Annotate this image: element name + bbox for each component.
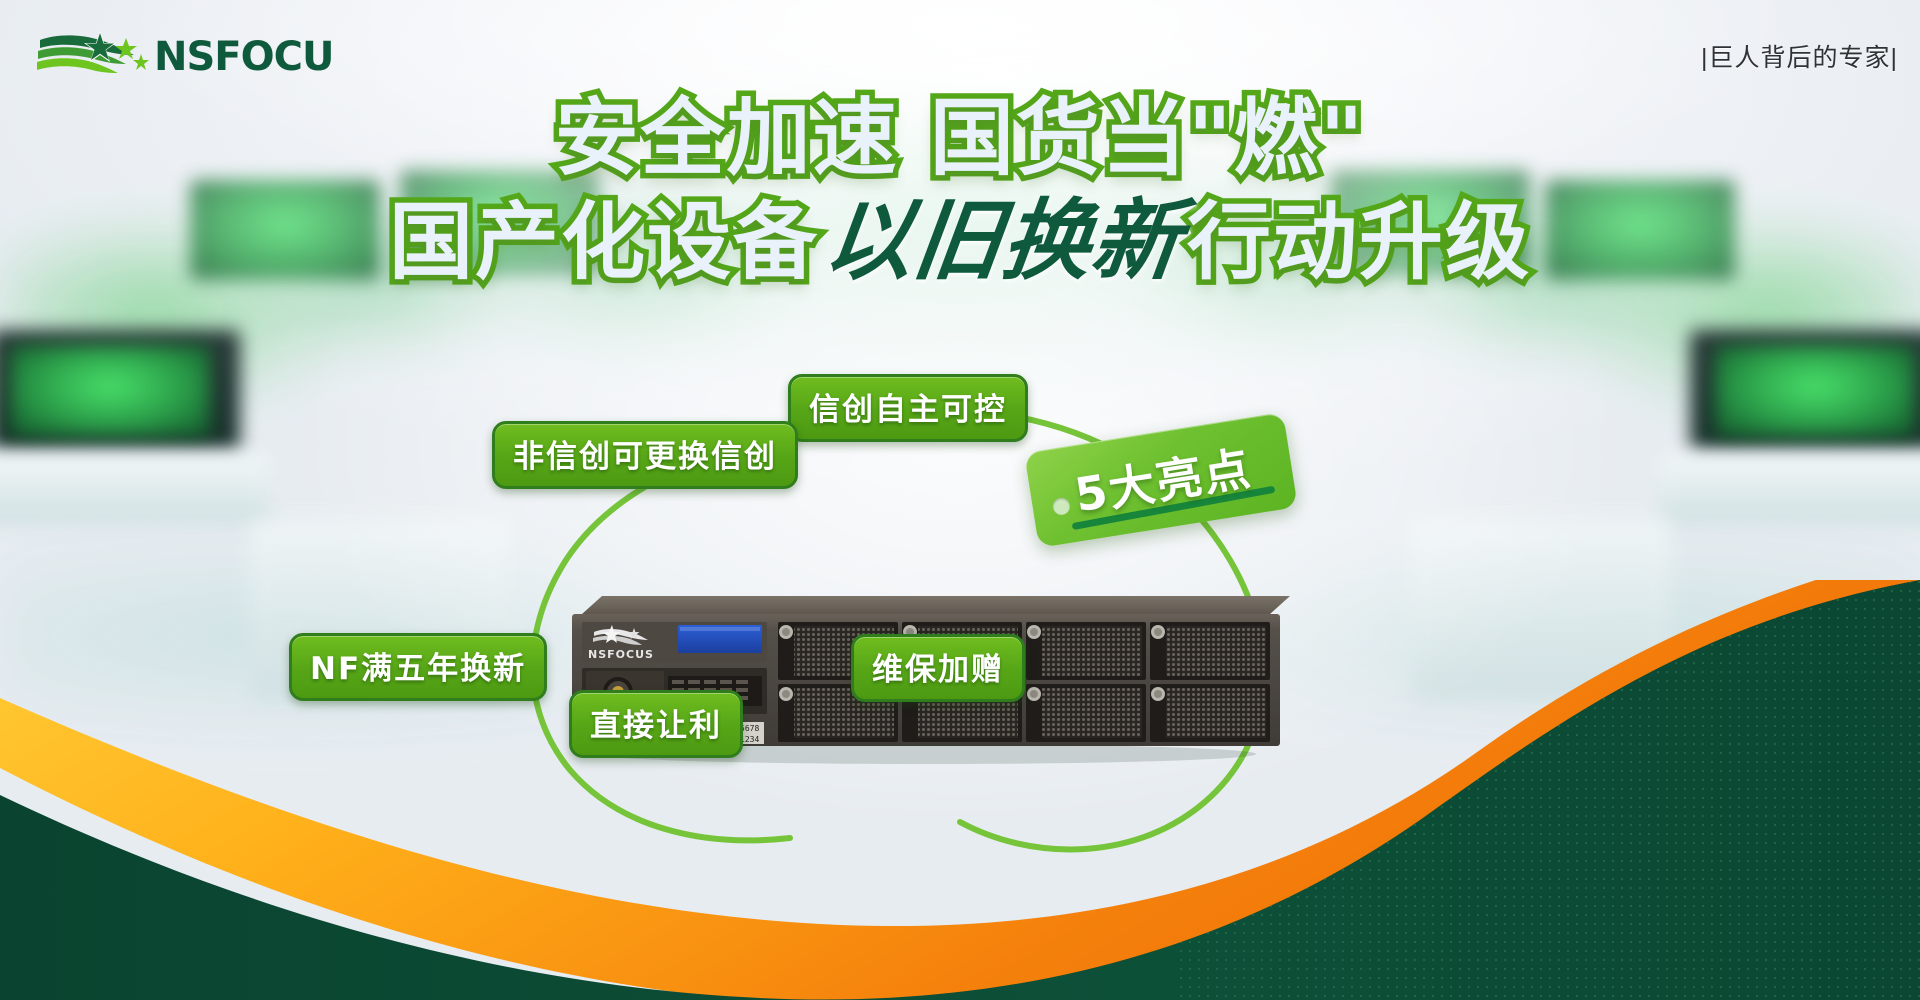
feature-pill-maintenance-bonus[interactable]: 维保加赠: [851, 634, 1025, 702]
nsfocus-logo-wordmark: NSFOCUS: [154, 34, 334, 80]
nsfocus-logo-svg: NSFOCUS: [34, 28, 334, 82]
banner-stage: NSFOCUS |巨人背后的专家| 安全加速 国货当"燃" 国产化设备以旧换新行…: [0, 0, 1920, 1000]
appliance-brand-text: NSFOCUS: [588, 648, 654, 661]
headline-line-2-right: 行动升级: [1187, 193, 1531, 291]
headline-block: 安全加速 国货当"燃" 国产化设备以旧换新行动升级: [0, 96, 1920, 285]
headline-line-1: 安全加速 国货当"燃": [0, 96, 1920, 182]
headline-line-2-left: 国产化设备: [389, 193, 819, 291]
headline-brush-phrase: 以旧换新: [813, 196, 1192, 286]
feature-pill-nf-five-year-renewal[interactable]: NF满五年换新: [289, 633, 547, 701]
nsfocus-flag-star-logo: [37, 31, 149, 73]
feature-pill-non-xinchuang-replace[interactable]: 非信创可更换信创: [492, 421, 798, 489]
headline-line-1-text: 安全加速 国货当"燃": [555, 89, 1366, 187]
appliance-top-face: [582, 596, 1290, 614]
feature-pill-xinchuang-autonomous[interactable]: 信创自主可控: [788, 374, 1028, 442]
feature-pill-direct-discount[interactable]: 直接让利: [569, 690, 743, 758]
headline-line-2: 国产化设备以旧换新行动升级: [0, 196, 1920, 286]
nsfocus-logo[interactable]: NSFOCUS: [34, 28, 334, 82]
header-tagline: |巨人背后的专家|: [1701, 38, 1898, 74]
